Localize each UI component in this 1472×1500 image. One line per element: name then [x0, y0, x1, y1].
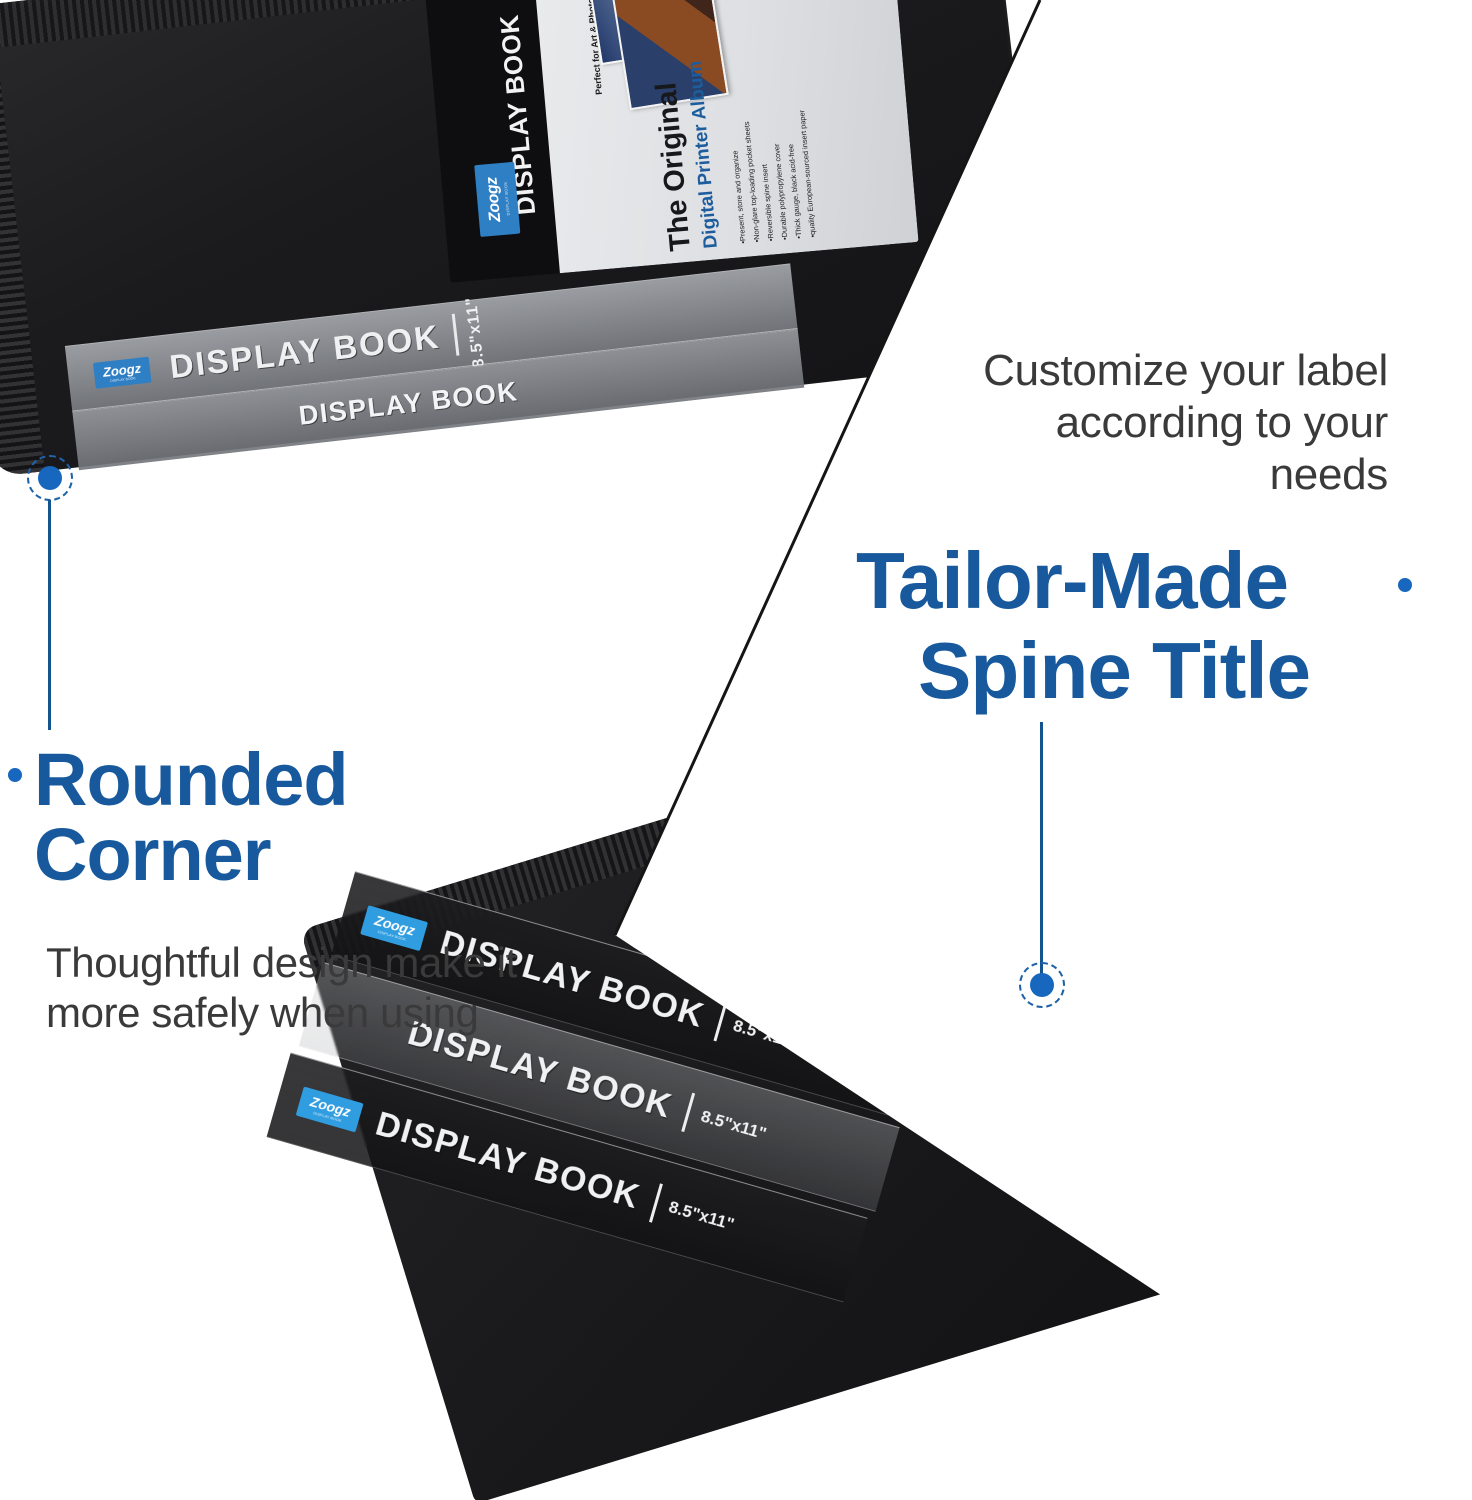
product-infographic: DISPLAY BOOK Zoogz DISPLAY BOOK Perfect …: [0, 0, 1472, 1500]
brand-logo: Zoogz DISPLAY BOOK: [93, 357, 152, 389]
brand-logo: Zoogz DISPLAY BOOK: [296, 1086, 364, 1132]
marker-dot: [1030, 973, 1054, 997]
brand-logo-sub: DISPLAY BOOK: [502, 181, 510, 215]
spine-size-text: 8.5"x11": [731, 1016, 801, 1054]
spine-size-text: 8.5"x11": [698, 1107, 768, 1145]
spine-divider-rule: [714, 1002, 728, 1041]
headline-bullet-dot: [1398, 578, 1412, 592]
spine-title-text: DISPLAY BOOK: [297, 376, 520, 432]
callout-headline-rounded-corner: Rounded Corner: [34, 742, 504, 893]
product-photo-top: DISPLAY BOOK Zoogz DISPLAY BOOK Perfect …: [0, 0, 1072, 527]
retail-label-card: DISPLAY BOOK Zoogz DISPLAY BOOK Perfect …: [425, 0, 919, 283]
label-feature-list: Present, store and organize Non-glare to…: [708, 0, 821, 244]
callout-headline-tailor-made-line1: Tailor-Made: [856, 540, 1396, 622]
callout-headline-tailor-made-line2: Spine Title: [918, 630, 1458, 712]
spine-divider-rule: [681, 1093, 695, 1132]
callout-marker-tailor-made: [1019, 962, 1065, 1008]
brand-logo-name: Zoogz: [484, 177, 504, 223]
callout-body-rounded-corner: Thoughtful design make it more safely wh…: [46, 938, 546, 1039]
callout-kicker-tailor-made: Customize your label according to your n…: [968, 345, 1388, 501]
spine-divider-rule: [451, 314, 459, 356]
callout-marker-rounded-corner: [27, 455, 73, 501]
callout-leader-line-rounded-corner: [48, 500, 51, 730]
marker-dot: [38, 466, 62, 490]
spine-size-text: 8.5"x11": [463, 296, 489, 369]
brand-logo: Zoogz DISPLAY BOOK: [474, 162, 520, 237]
spine-size-text: 8.5"x11": [666, 1197, 736, 1235]
callout-leader-line-tailor-made: [1040, 722, 1043, 984]
spine-divider-rule: [649, 1183, 663, 1222]
label-artwork-panel: Perfect for Art & Photography The Origin…: [534, 0, 918, 273]
headline-bullet-dot: [8, 768, 22, 782]
